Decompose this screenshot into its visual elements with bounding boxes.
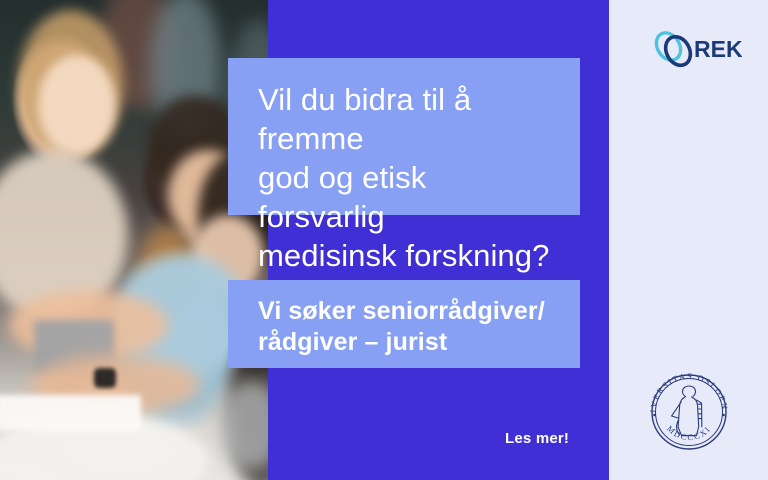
photo-blob-person-one-face — [38, 55, 116, 155]
photo-blob-wristwatch — [94, 368, 116, 388]
headline-text: Vil du bidra til å fremme god og etisk f… — [258, 80, 554, 275]
rek-ring-dark — [661, 32, 695, 69]
uio-seal-dot-right — [722, 414, 725, 417]
role-text: Vi søker seniorrådgiver/ rådgiver – juri… — [258, 296, 554, 359]
rek-wordmark: REK — [694, 36, 742, 62]
uio-seal: UNIVERSITAS OSLOENSIS MDCCCXI — [645, 368, 733, 456]
rek-logo: REK — [650, 26, 742, 74]
role-card: Vi søker seniorrådgiver/ rådgiver – juri… — [228, 280, 580, 368]
job-advert-banner: Vil du bidra til å fremme god og etisk f… — [0, 0, 768, 480]
rek-logo-mark: REK — [650, 26, 742, 74]
uio-seal-figure — [672, 386, 702, 436]
uio-seal-bottom-text: MDCCCXI — [665, 424, 713, 442]
uio-seal-dot-left — [653, 414, 656, 417]
les-mer-link[interactable]: Les mer! — [505, 430, 569, 447]
uio-seal-mark: UNIVERSITAS OSLOENSIS MDCCCXI — [645, 368, 733, 456]
photo-blob-notebook — [0, 395, 141, 431]
rek-rings-icon — [651, 28, 695, 69]
headline-card: Vil du bidra til å fremme god og etisk f… — [228, 58, 580, 215]
